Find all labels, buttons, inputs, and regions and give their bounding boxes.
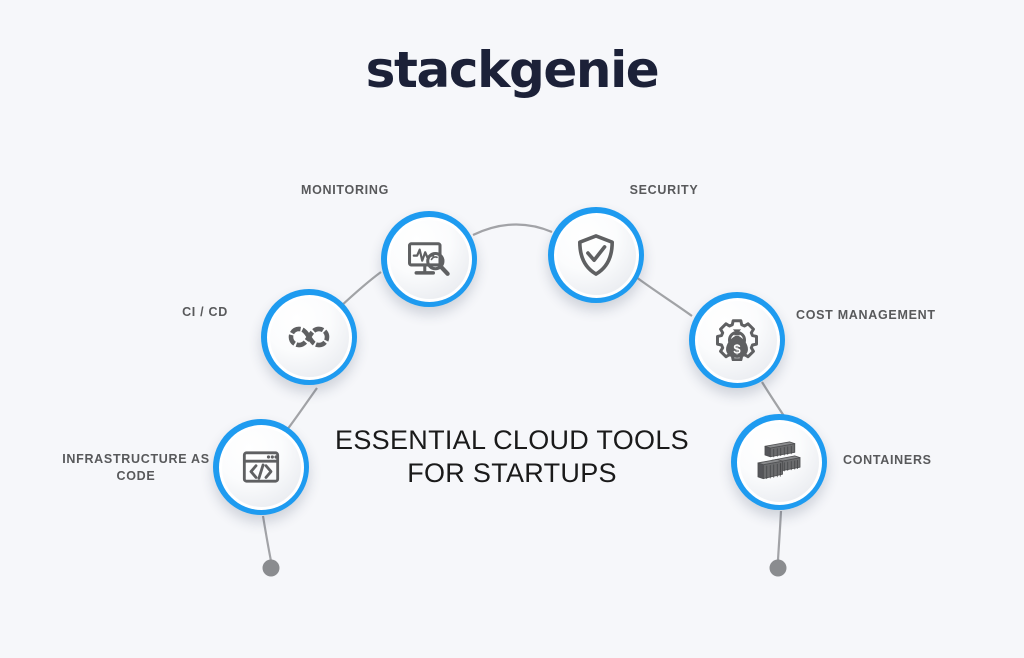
node-infrastructure-as-code[interactable]: [213, 419, 309, 515]
label-infrastructure-as-code: INFRASTRUCTURE AS CODE: [56, 451, 216, 485]
node-disc: $: [698, 301, 777, 380]
node-cost-management[interactable]: $: [689, 292, 785, 388]
node-containers[interactable]: [731, 414, 827, 510]
stem-line-right: [778, 511, 781, 560]
stem-dot-right: [770, 560, 787, 577]
arc-security-cost: [636, 277, 692, 316]
gear-money-bag-icon: $: [715, 319, 759, 361]
page-title: ESSENTIAL CLOUD TOOLS FOR STARTUPS: [312, 424, 712, 490]
node-ring-gap: [219, 425, 304, 510]
label-monitoring: MONITORING: [279, 182, 411, 199]
node-monitoring[interactable]: [381, 211, 477, 307]
node-ring-gap: [554, 213, 639, 298]
svg-text:$: $: [733, 342, 741, 357]
label-cost-management: COST MANAGEMENT: [796, 307, 976, 324]
node-ring-gap: [387, 217, 472, 302]
node-disc: [557, 216, 636, 295]
node-disc: [390, 220, 469, 299]
node-disc: [270, 298, 349, 377]
infinity-loop-icon: [286, 321, 332, 353]
node-security[interactable]: [548, 207, 644, 303]
node-disc: [740, 423, 819, 502]
arc-cicd-monitoring: [340, 272, 381, 307]
code-window-icon: [241, 447, 281, 487]
stem-dot-left: [263, 560, 280, 577]
node-disc: [222, 428, 301, 507]
node-ring-gap: $: [695, 298, 780, 383]
node-ring-gap: [267, 295, 352, 380]
infographic-canvas: stackgenie: [0, 0, 1024, 658]
arc-monitoring-security: [473, 224, 552, 235]
label-security: SECURITY: [610, 182, 718, 199]
page-title-line-1: ESSENTIAL CLOUD TOOLS: [312, 424, 712, 457]
label-containers: CONTAINERS: [843, 452, 983, 469]
page-title-line-2: FOR STARTUPS: [312, 457, 712, 490]
shipping-containers-icon: [756, 441, 802, 483]
node-ci-cd[interactable]: [261, 289, 357, 385]
label-ci-cd: CI / CD: [161, 304, 249, 321]
node-ring-gap: [737, 420, 822, 505]
shield-check-icon: [576, 233, 616, 277]
arc-cost-containers: [762, 382, 784, 416]
connector-arcs: [0, 0, 1024, 658]
stem-line-left: [263, 516, 271, 561]
monitor-magnifier-icon: [407, 239, 451, 279]
